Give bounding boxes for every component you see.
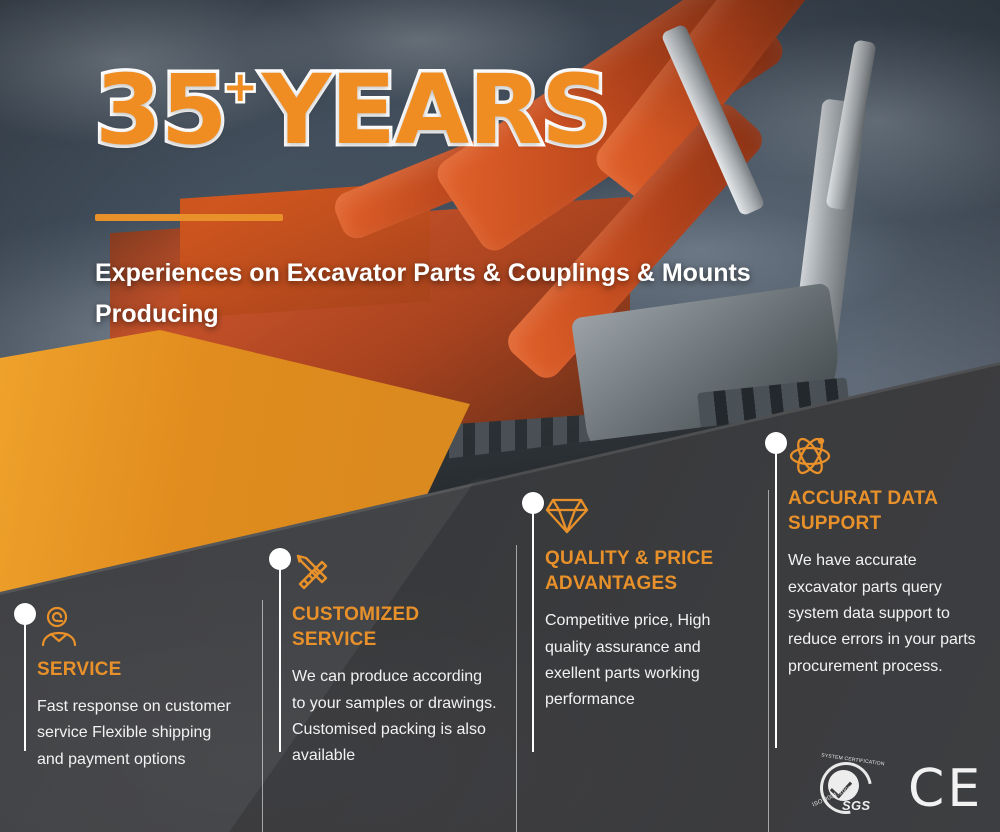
hero-block: 35 + YEARS Experiences on Excavator Part… [95,62,855,334]
years-number: 35 [95,62,227,158]
feature-card-customized-service[interactable]: CUSTOMIZED SERVICE We can produce accord… [292,548,497,770]
ce-mark-icon: C E [908,763,980,815]
customer-service-agent-icon [37,603,242,647]
sgs-label: SGS [842,798,870,813]
feature-title-quality-price: QUALITY & PRICE ADVANTAGES [545,546,743,596]
column-divider-3 [768,490,769,832]
timeline-stem-1 [24,623,26,751]
hero-accent-rule [95,214,283,221]
diamond-icon [545,492,743,536]
feature-title-customized-service: CUSTOMIZED SERVICE [292,602,497,652]
certification-marks: SYSTEM CERTIFICATION ISO 9001:2000 SGS C… [812,758,980,820]
sgs-iso-certification-icon: SYSTEM CERTIFICATION ISO 9001:2000 SGS [812,758,880,820]
feature-body-accurate-data-support: We have accurate excavator parts query s… [788,548,980,680]
years-word: YEARS [262,62,609,158]
feature-body-service: Fast response on customer service Flexib… [37,694,242,773]
ce-letter-c: C [908,763,944,815]
atom-icon [788,432,980,476]
hero-subtitle: Experiences on Excavator Parts & Couplin… [95,253,795,334]
timeline-dot-3 [522,492,544,514]
feature-card-accurate-data-support[interactable]: ACCURAT DATA SUPPORT We have accurate ex… [788,432,980,680]
years-plus-symbol: + [223,66,258,108]
pencil-ruler-icon [292,548,497,592]
feature-title-accurate-data-support: ACCURAT DATA SUPPORT [788,486,980,536]
promo-banner: 35 + YEARS Experiences on Excavator Part… [0,0,1000,832]
timeline-dot-1 [14,603,36,625]
ce-letter-e: E [947,763,980,815]
timeline-stem-4 [775,452,777,748]
timeline-stem-2 [279,568,281,752]
feature-title-service: SERVICE [37,657,242,682]
column-divider-1 [262,600,263,832]
years-headline: 35 + YEARS [95,62,855,158]
feature-card-quality-price[interactable]: QUALITY & PRICE ADVANTAGES Competitive p… [545,492,743,714]
feature-card-service[interactable]: SERVICE Fast response on customer servic… [37,603,242,773]
feature-body-customized-service: We can produce according to your samples… [292,664,497,770]
timeline-stem-3 [532,512,534,752]
column-divider-2 [516,545,517,832]
timeline-dot-2 [269,548,291,570]
timeline-dot-4 [765,432,787,454]
feature-body-quality-price: Competitive price, High quality assuranc… [545,608,743,714]
